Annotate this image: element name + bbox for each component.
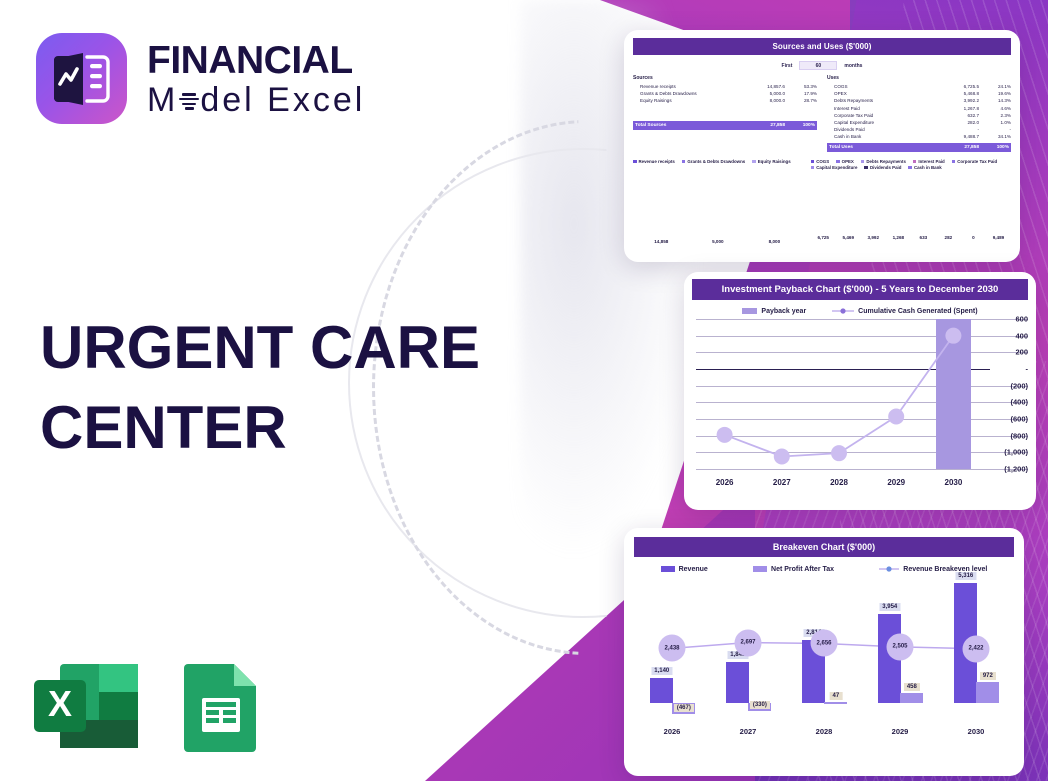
legend-swatch: [742, 308, 757, 314]
bar-column: 5,000: [701, 239, 735, 246]
row-label: Cash in Bank: [827, 134, 937, 139]
bar-value-label: 6,725: [817, 235, 829, 240]
x-tick-label: 2026: [634, 727, 710, 736]
legend-label: Dividends Paid: [870, 165, 901, 170]
months-label: months: [844, 63, 862, 69]
y-tick-label: 600: [1015, 315, 1028, 324]
row-label: Equity Raisings: [633, 98, 743, 103]
legend-swatch: [913, 160, 917, 164]
row-value: 5,000.0: [743, 91, 785, 96]
table-row: COGS6,725.524.1%: [827, 83, 1011, 90]
breakeven-bubble: 2,438: [659, 635, 686, 662]
uses-total-pct: 100%: [979, 145, 1011, 150]
financial-model-excel-logo-icon: [36, 33, 127, 124]
legend-item: Revenue receipts: [633, 159, 675, 164]
brand-line-2-post: del Excel: [200, 83, 365, 117]
y-tick-label: (600): [1010, 415, 1028, 424]
legend-swatch: [861, 160, 865, 164]
table-row: OPEX5,468.819.6%: [827, 90, 1011, 97]
legend-line-marker-icon: [879, 565, 899, 573]
sources-total-label: Total Sources: [633, 123, 743, 128]
breakeven-bubble: 2,505: [887, 633, 914, 660]
payback-x-axis-labels: 20262027202820292030: [696, 478, 982, 487]
breakeven-bubble: 2,422: [963, 635, 990, 662]
sources-total-value: 27,858: [743, 123, 785, 128]
row-pct: 4.6%: [979, 106, 1011, 111]
bar-value-label: 0: [972, 235, 975, 240]
legend-label: Revenue receipts: [639, 159, 675, 164]
legend-label: Capital Expenditure: [816, 165, 857, 170]
bar-column: 6,725: [815, 235, 832, 242]
bar-value-label: 633: [920, 235, 928, 240]
y-tick-label: (200): [1010, 381, 1028, 390]
row-value: 5,468.8: [937, 91, 979, 96]
bar-value-label: 3,992: [868, 235, 880, 240]
legend-net-profit: Net Profit After Tax: [753, 565, 834, 573]
legend-item: Debts Repayments: [861, 159, 906, 164]
legend-label: Grants & Debts Drawdowns: [687, 159, 745, 164]
sources-and-uses-card: Sources and Uses ($'000) First 60 months…: [624, 30, 1020, 262]
bar-column: 8,000: [757, 239, 791, 246]
legend-label: Cash in Bank: [914, 165, 942, 170]
x-tick-label: 2028: [786, 727, 862, 736]
svg-text:X: X: [48, 683, 72, 724]
row-label: Capital Expenditure: [827, 120, 937, 125]
bar-column: 633: [915, 235, 932, 242]
bar-column: 9,489: [990, 235, 1007, 242]
uses-total-value: 27,858: [937, 145, 979, 150]
legend-line-marker-icon: [832, 307, 854, 315]
sources-bars: 14,8585,0008,000: [633, 170, 803, 246]
x-tick-label: 2027: [753, 478, 810, 487]
y-tick-label: (400): [1010, 398, 1028, 407]
payback-line-series: [696, 319, 982, 469]
legend-swatch: [836, 160, 840, 164]
investment-payback-card: Investment Payback Chart ($'000) - 5 Yea…: [684, 272, 1036, 510]
y-tick-label: 400: [1015, 331, 1028, 340]
breakeven-x-axis-labels: 20262027202820292030: [634, 727, 1014, 736]
bar-value-label: 8,000: [769, 239, 781, 244]
logo-glyph: [51, 50, 113, 108]
table-row: Revenue receipts14,857.653.3%: [633, 83, 817, 90]
data-point: [888, 409, 904, 425]
x-tick-label: 2028: [810, 478, 867, 487]
table-row: Dividends Paid--: [827, 126, 1011, 133]
row-pct: 28.7%: [785, 98, 817, 103]
row-label: COGS: [827, 84, 937, 89]
uses-table: Uses COGS6,725.524.1%OPEX5,468.819.6%Deb…: [827, 75, 1011, 152]
row-label: OPEX: [827, 91, 937, 96]
payback-title: Investment Payback Chart ($'000) - 5 Yea…: [692, 279, 1028, 300]
gridline: [696, 469, 1028, 470]
legend-cumulative-cash: Cumulative Cash Generated (Spent): [832, 307, 977, 315]
brand-line-1: FINANCIAL: [147, 41, 365, 80]
bar-value-label: 14,858: [654, 239, 668, 244]
row-value: 14,857.6: [743, 84, 785, 89]
table-row: Equity Raisings8,000.028.7%: [633, 97, 817, 104]
row-pct: 14.3%: [979, 98, 1011, 103]
legend-swatch: [752, 160, 756, 164]
payback-y-axis-labels: 600400200-(200)(400)(600)(800)(1,000)(1,…: [982, 319, 1028, 469]
x-tick-label: 2029: [862, 727, 938, 736]
bar-column: 0: [965, 235, 982, 242]
supported-apps: X: [30, 660, 260, 757]
legend-label: OPEX: [842, 159, 854, 164]
row-label: Revenue receipts: [633, 84, 743, 89]
row-value: 1,267.8: [937, 106, 979, 111]
row-pct: 1.0%: [979, 120, 1011, 125]
brand-line-2: M del Excel: [147, 83, 365, 117]
legend-swatch: [908, 166, 912, 170]
row-pct: 19.6%: [979, 91, 1011, 96]
table-row: Interest Paid1,267.84.6%: [827, 105, 1011, 112]
net-profit-bar: [976, 682, 999, 704]
legend-label: Equity Raisings: [758, 159, 791, 164]
legend-item: Cash in Bank: [908, 165, 941, 170]
breakeven-title: Breakeven Chart ($'000): [634, 537, 1014, 557]
row-label: Corporate Tax Paid: [827, 113, 937, 118]
legend-item: Interest Paid: [913, 159, 945, 164]
row-value: 8,000.0: [743, 98, 785, 103]
row-pct: 17.9%: [785, 91, 817, 96]
table-row: Cash in Bank9,488.734.1%: [827, 133, 1011, 140]
row-pct: 53.3%: [785, 84, 817, 89]
row-value: 282.0: [937, 120, 979, 125]
legend-item: Equity Raisings: [752, 159, 790, 164]
data-point: [774, 449, 790, 465]
legend-item: COGS: [811, 159, 829, 164]
first-label: First: [782, 63, 793, 69]
table-row: Debts Repayments3,992.214.3%: [827, 97, 1011, 104]
breakeven-card: Breakeven Chart ($'000) Revenue Net Prof…: [624, 528, 1024, 776]
row-label: Dividends Paid: [827, 127, 937, 132]
legend-swatch: [682, 160, 686, 164]
legend-swatch: [661, 566, 675, 572]
row-label: Grants & Debts Drawdowns: [633, 91, 743, 96]
legend-label: Cumulative Cash Generated (Spent): [858, 308, 977, 315]
y-tick-label: -: [1026, 365, 1029, 374]
row-value: -: [937, 127, 979, 132]
legend-label: Payback year: [761, 308, 806, 315]
breakeven-bubble: 2,656: [811, 630, 838, 657]
brand-line-2-pre: M: [147, 83, 178, 117]
cumulative-cash-line: [725, 336, 954, 457]
payback-legend: Payback year Cumulative Cash Generated (…: [692, 307, 1028, 315]
bar-column: 3,992: [865, 235, 882, 242]
uses-bars: 6,7255,4693,9921,26863328209,489: [811, 174, 1011, 242]
bar-value-label: 1,268: [893, 235, 905, 240]
legend-item: Corporate Tax Paid: [952, 159, 997, 164]
uses-total-label: Total Uses: [827, 145, 937, 150]
row-label: Interest Paid: [827, 106, 937, 111]
row-value: 632.7: [937, 113, 979, 118]
legend-label: Interest Paid: [918, 159, 944, 164]
y-tick-label: (800): [1010, 431, 1028, 440]
months-input[interactable]: 60: [799, 61, 837, 70]
payback-plot-area: 600400200-(200)(400)(600)(800)(1,000)(1,…: [696, 319, 982, 469]
sources-header: Sources: [633, 75, 817, 81]
bar-value-label: 5,000: [712, 239, 724, 244]
period-selector[interactable]: First 60 months: [633, 61, 1011, 70]
legend-label: Net Profit After Tax: [771, 566, 834, 573]
bar-value-label: 5,469: [843, 235, 855, 240]
bar-value-label: 9,489: [993, 235, 1005, 240]
x-tick-label: 2029: [868, 478, 925, 487]
microsoft-excel-icon: X: [30, 660, 142, 757]
row-label: Debts Repayments: [827, 98, 937, 103]
table-row: Corporate Tax Paid632.72.3%: [827, 112, 1011, 119]
net-profit-value-label: 972: [980, 672, 996, 680]
y-tick-label: (1,200): [1004, 465, 1028, 474]
legend-item: Grants & Debts Drawdowns: [682, 159, 745, 164]
x-tick-label: 2030: [938, 727, 1014, 736]
bar-column: 5,469: [840, 235, 857, 242]
legend-label: Revenue: [679, 566, 708, 573]
bar-column: 1,268: [890, 235, 907, 242]
legend-swatch: [633, 160, 637, 164]
uses-header: Uses: [827, 75, 1011, 81]
row-value: 6,725.5: [937, 84, 979, 89]
legend-label: COGS: [816, 159, 829, 164]
row-value: 3,992.2: [937, 98, 979, 103]
uses-bar-chart: COGSOPEXDebts RepaymentsInterest PaidCor…: [811, 159, 1011, 246]
breakeven-bubble: 2,697: [735, 629, 762, 656]
bar-column: 14,858: [644, 239, 678, 246]
data-point: [831, 445, 847, 461]
sources-total-pct: 100%: [785, 123, 817, 128]
brand-logo: FINANCIAL M del Excel: [36, 33, 365, 124]
uses-legend: COGSOPEXDebts RepaymentsInterest PaidCor…: [811, 159, 1011, 170]
legend-label: Debts Repayments: [866, 159, 906, 164]
legend-item: Dividends Paid: [864, 165, 901, 170]
data-point: [945, 328, 961, 344]
data-point: [717, 427, 733, 443]
google-sheets-icon: [182, 660, 260, 757]
hamburger-o-icon: [179, 93, 199, 109]
breakeven-plot-area: 1,140(467)1,848(330)2,814473,9544585,316…: [634, 577, 1014, 717]
sources-bar-chart: Revenue receiptsGrants & Debts Drawdowns…: [633, 159, 803, 246]
row-pct: 34.1%: [979, 134, 1011, 139]
x-tick-label: 2026: [696, 478, 753, 487]
breakeven-legend: Revenue Net Profit After Tax Revenue Bre…: [638, 565, 1010, 573]
legend-item: Capital Expenditure: [811, 165, 858, 170]
revenue-value-label: 5,316: [955, 572, 976, 580]
row-pct: 24.1%: [979, 84, 1011, 89]
legend-swatch: [952, 160, 956, 164]
row-pct: 2.3%: [979, 113, 1011, 118]
x-tick-label: 2027: [710, 727, 786, 736]
row-pct: -: [979, 127, 1011, 132]
legend-swatch: [864, 166, 868, 170]
sources-uses-title: Sources and Uses ($'000): [633, 38, 1011, 55]
table-row: Grants & Debts Drawdowns5,000.017.9%: [633, 90, 817, 97]
sources-total-row: Total Sources 27,858 100%: [633, 121, 817, 130]
x-tick-label: 2030: [925, 478, 982, 487]
bar-column: 282: [940, 235, 957, 242]
y-tick-label: 200: [1015, 348, 1028, 357]
legend-item: OPEX: [836, 159, 854, 164]
legend-revenue: Revenue: [661, 565, 708, 573]
y-tick-label: (1,000): [1004, 448, 1028, 457]
table-row: Capital Expenditure282.01.0%: [827, 119, 1011, 126]
uses-total-row: Total Uses 27,858 100%: [827, 143, 1011, 152]
sources-table: Sources Revenue receipts14,857.653.3%Gra…: [633, 75, 817, 152]
row-value: 9,488.7: [937, 134, 979, 139]
legend-label: Corporate Tax Paid: [957, 159, 997, 164]
legend-swatch: [811, 160, 815, 164]
legend-swatch: [811, 166, 815, 170]
legend-swatch: [753, 566, 767, 572]
page-title: URGENT CARE CENTER: [40, 308, 510, 468]
bar-value-label: 282: [945, 235, 953, 240]
legend-payback-year: Payback year: [742, 307, 806, 315]
sources-legend: Revenue receiptsGrants & Debts Drawdowns…: [633, 159, 803, 164]
